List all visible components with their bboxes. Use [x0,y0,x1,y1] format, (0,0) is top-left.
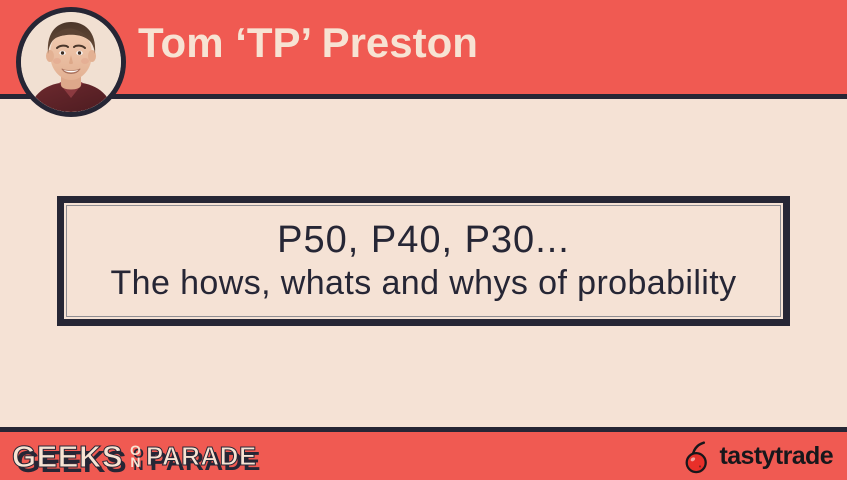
tastytrade-wordmark: tastytrade [720,444,834,469]
speaker-name: Tom ‘TP’ Preston [138,22,478,64]
page-subtitle: The hows, whats and whys of probability [110,264,736,303]
gop-word-parade: PARADE [146,443,257,469]
presentation-slide: Tom ‘TP’ Preston P50, P40, P30... The ho… [0,0,847,480]
tastytrade-logo: tastytrade [681,437,834,475]
gop-on-letter-n: N [130,456,140,468]
avatar [16,7,126,117]
title-box: P50, P40, P30... The hows, whats and why… [57,196,790,326]
gop-word-geeks: GEEKS [12,441,123,472]
page-title: P50, P40, P30... [277,219,570,263]
cherry-icon [681,437,719,475]
gop-word-on: O N [130,444,141,469]
header-divider-rule [0,94,847,99]
geeks-on-parade-logo: GEEKS O N PARADE [12,434,257,478]
avatar-photo [21,12,121,112]
